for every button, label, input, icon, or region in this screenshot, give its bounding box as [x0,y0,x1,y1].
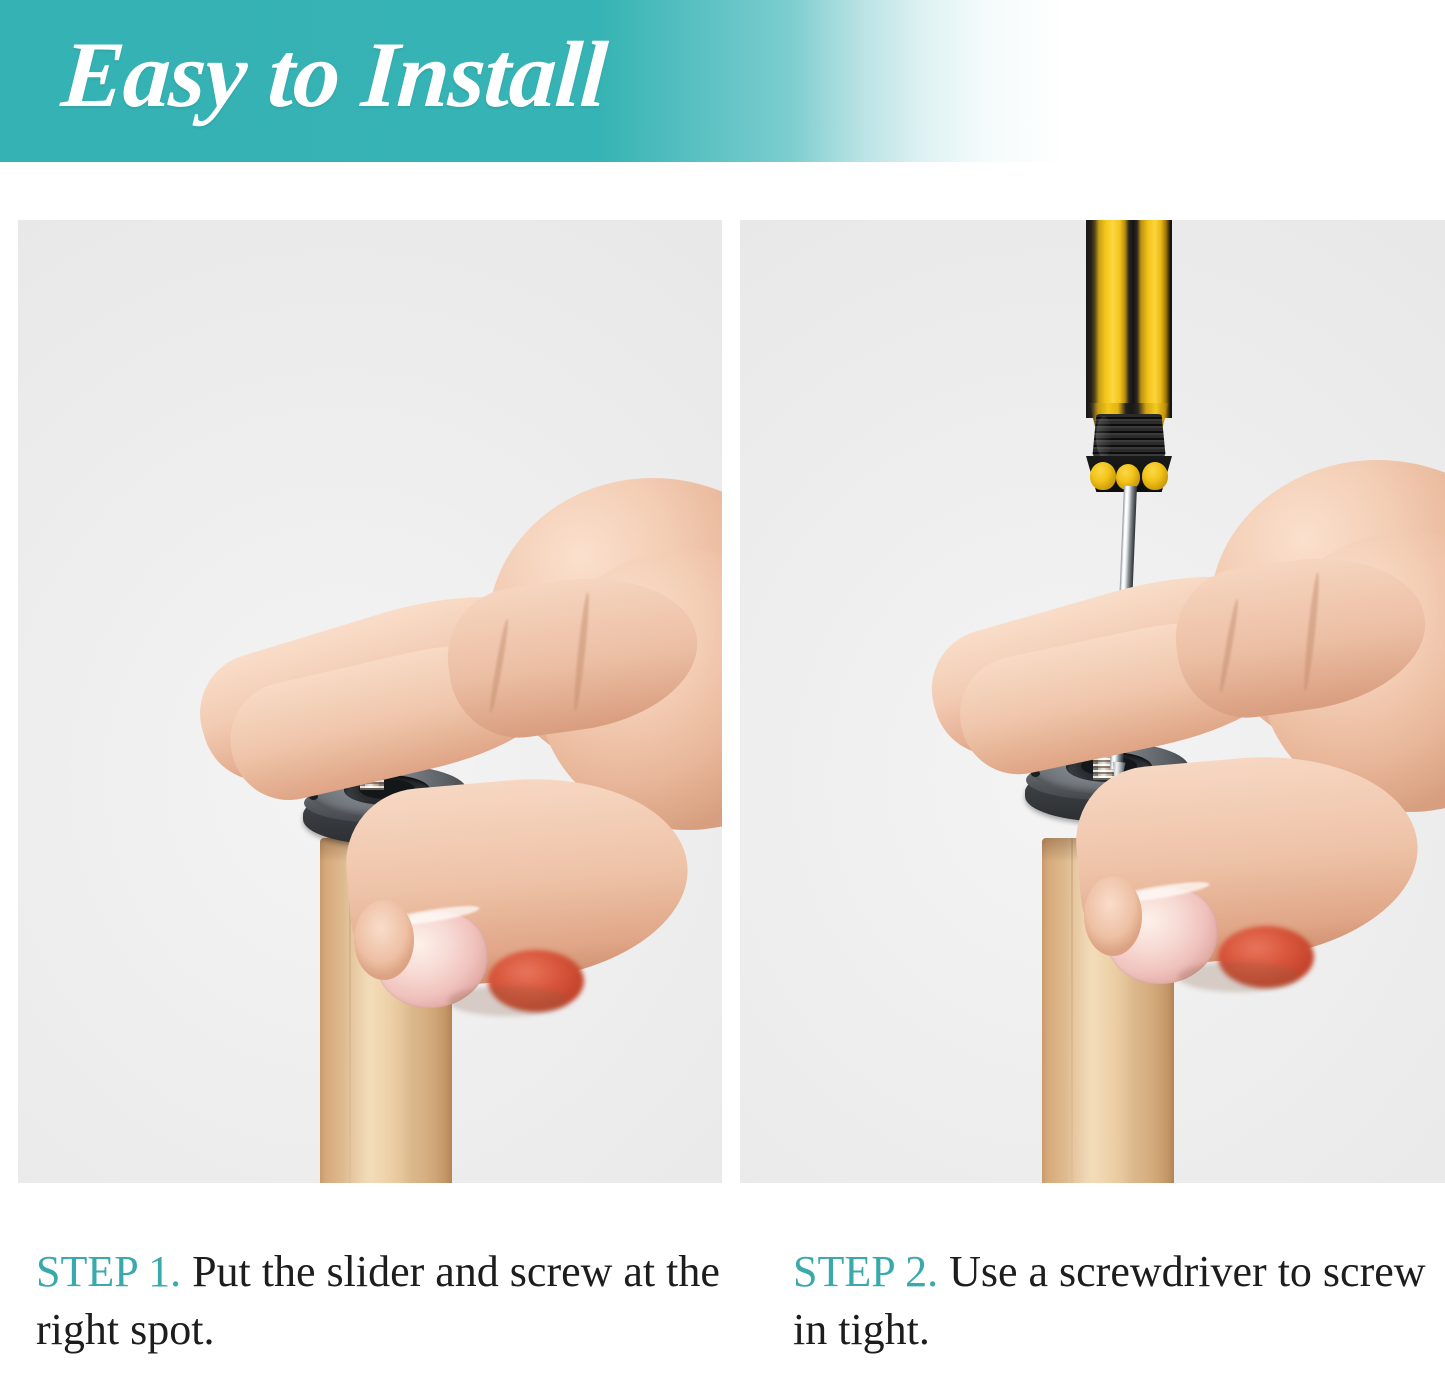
product-instruction-graphic: Easy to Install [0,0,1445,1376]
step-1-caption: STEP 1. Put the slider and screw at the … [36,1243,726,1359]
hand-contact-shadow [1178,962,1298,992]
step-2-label: STEP 2. [793,1247,938,1296]
fingertip [354,900,414,980]
step-1-photo-panel [18,220,722,1183]
hand [18,220,722,1183]
step-2-photo-panel [740,220,1445,1183]
step-1-label: STEP 1. [36,1247,181,1296]
hand-contact-shadow [448,986,568,1016]
hand [740,220,1445,1183]
fingertip [1084,876,1142,956]
banner-title: Easy to Install [59,26,610,125]
step-2-caption: STEP 2. Use a screwdriver to screw in ti… [793,1243,1443,1359]
header-banner: Easy to Install [0,0,1070,162]
